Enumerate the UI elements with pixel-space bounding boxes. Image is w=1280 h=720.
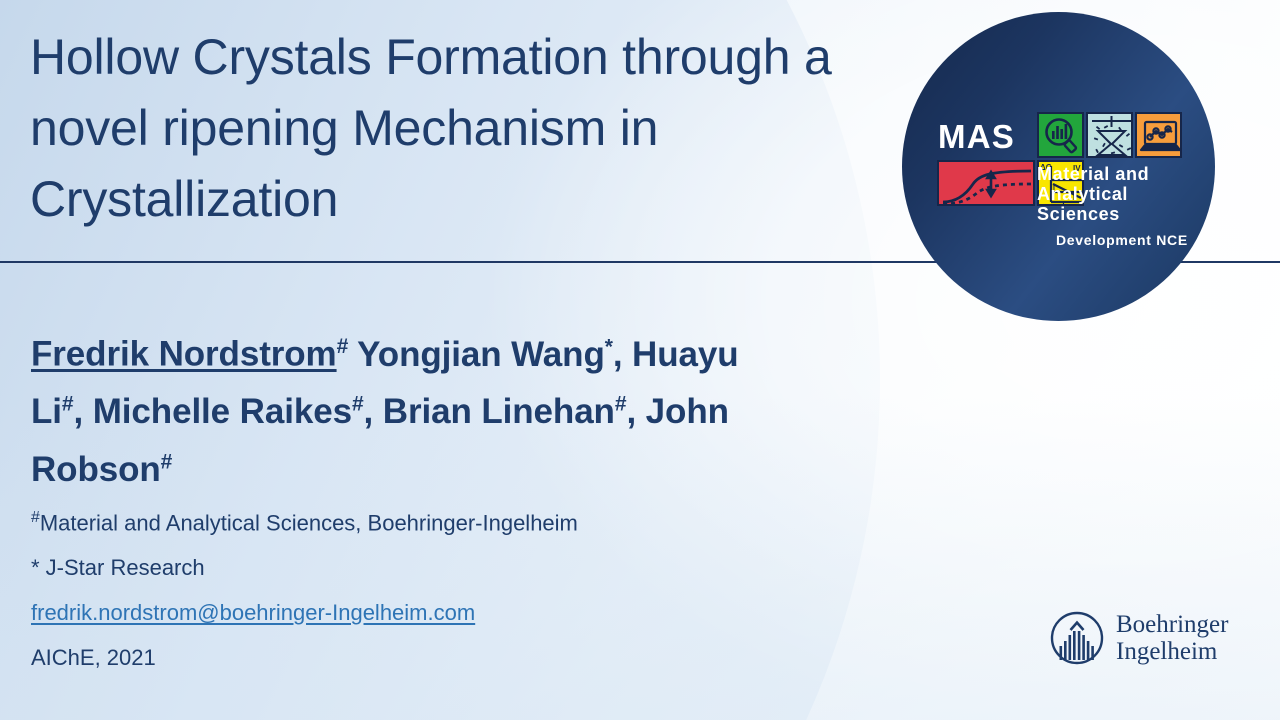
mas-acronym: MAS <box>938 120 1015 153</box>
mas-logo-inner: MAS <box>920 112 1202 272</box>
company-name-line-2: Ingelheim <box>1116 638 1228 665</box>
affiliation-mark-star: * <box>605 335 613 358</box>
contact-email-link[interactable]: fredrik.nordstrom@boehringer-Ingelheim.c… <box>31 590 475 635</box>
title-block: Hollow Crystals Formation through a nove… <box>30 22 910 235</box>
company-name-line-1: Boehringer <box>1116 611 1228 638</box>
mas-logo: MAS <box>902 12 1215 321</box>
affiliation-mark-hash: # <box>615 393 627 416</box>
mas-full-name: Material and Analytical Sciences <box>1037 164 1149 224</box>
affiliation-hash: #Material and Analytical Sciences, Boehr… <box>31 495 771 545</box>
affiliation-star: * J-Star Research <box>31 545 771 590</box>
page-title: Hollow Crystals Formation through a nove… <box>30 22 910 235</box>
presenting-author-affiliation-mark: # <box>337 335 349 358</box>
affiliation-mark-hash: # <box>62 393 74 416</box>
boehringer-ingelheim-stammhaus-icon <box>1049 610 1105 666</box>
affiliation-mark-hash: # <box>31 509 40 526</box>
crystallizer-particles-icon <box>1086 112 1133 158</box>
affiliation-mark-star: * <box>31 555 40 580</box>
conference-label: AIChE, 2021 <box>31 635 771 680</box>
laptop-molecule-icon <box>1135 112 1182 158</box>
mas-name-line-1: Material and <box>1037 164 1149 184</box>
authors-block: Fredrik Nordstrom# Yongjian Wang*, Huayu… <box>31 322 771 680</box>
presenting-author-name: Fredrik Nordstrom <box>31 335 337 374</box>
mas-tile-row-top <box>1037 112 1182 158</box>
mas-name-line-3: Sciences <box>1037 204 1149 224</box>
affiliation-mark-hash: # <box>352 393 364 416</box>
mas-name-line-2: Analytical <box>1037 184 1149 204</box>
bar-chart-magnifier-icon <box>1037 112 1084 158</box>
affiliation-mark-hash: # <box>161 450 173 473</box>
company-logo: Boehringer Ingelheim <box>1049 610 1228 666</box>
affiliation-hash-text: Material and Analytical Sciences, Boehri… <box>40 510 578 535</box>
kinetics-curve-icon <box>937 160 1035 206</box>
affiliation-star-text: J-Star Research <box>40 555 205 580</box>
mas-subtitle: Development NCE <box>1056 232 1188 248</box>
author-list: Fredrik Nordstrom# Yongjian Wang*, Huayu… <box>31 322 771 495</box>
company-logo-wordmark: Boehringer Ingelheim <box>1116 611 1228 665</box>
title-slide: Hollow Crystals Formation through a nove… <box>0 0 1280 720</box>
